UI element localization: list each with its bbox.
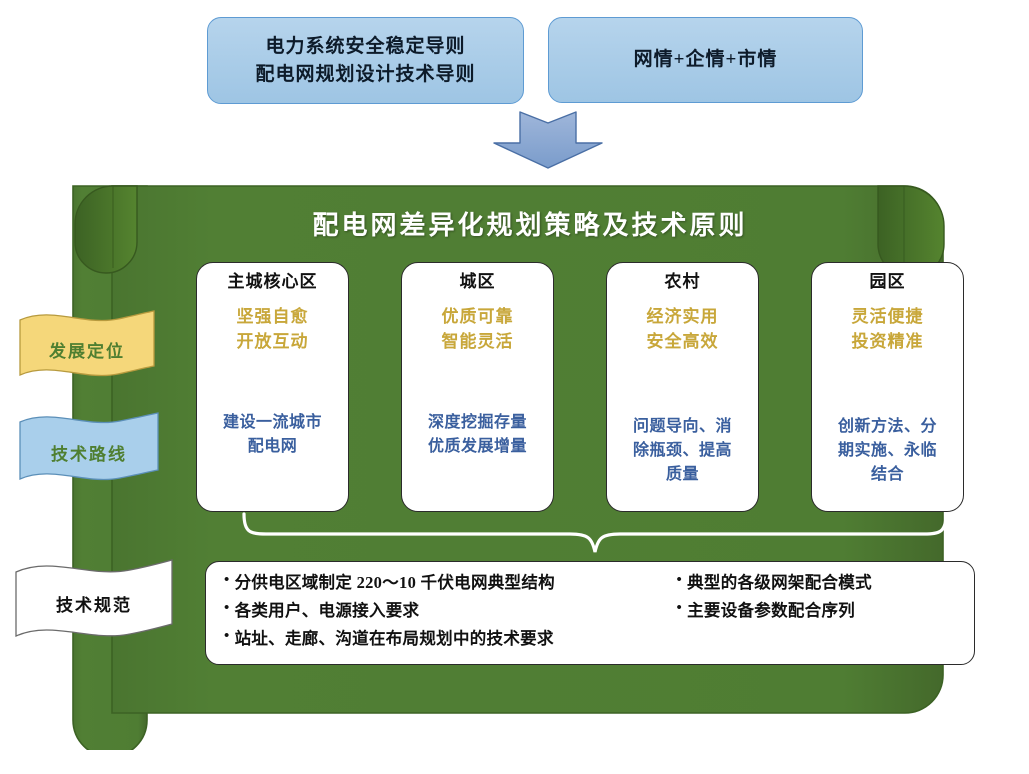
- input-box-context: 网情+企情+市情: [548, 17, 863, 103]
- spec-text: 各类用户、电源接入要求: [235, 600, 420, 621]
- spec-item: • 主要设备参数配合序列: [677, 600, 960, 621]
- spec-item: • 典型的各级网架配合模式: [677, 572, 960, 593]
- ribbon-technical-specification[interactable]: 技术规范: [14, 558, 174, 650]
- ribbon-label: 技术规范: [14, 591, 174, 616]
- card-positioning-text: 优质可靠 智能灵活: [442, 305, 514, 354]
- bullet-dot-icon: •: [224, 572, 230, 589]
- spec-item: • 分供电区域制定 220～10 千伏电网典型结构: [224, 572, 677, 593]
- scroll-title: 配电网差异化规划策略及技术原则: [180, 205, 880, 242]
- positioning-line: 灵活便捷: [852, 305, 924, 330]
- strategy-card-park[interactable]: 园区 灵活便捷 投资精准 创新方法、分 期实施、永临 结合: [811, 262, 964, 512]
- ribbon-label: 技术路线: [18, 440, 160, 465]
- spec-text: 分供电区域制定 220～10 千伏电网典型结构: [235, 572, 555, 593]
- specs-column-left: • 分供电区域制定 220～10 千伏电网典型结构 • 各类用户、电源接入要求 …: [224, 572, 677, 656]
- card-route-text: 建设一流城市 配电网: [223, 411, 322, 459]
- route-line: 优质发展增量: [428, 435, 527, 459]
- specs-column-right: • 典型的各级网架配合模式 • 主要设备参数配合序列: [677, 572, 960, 656]
- positioning-line: 经济实用: [647, 305, 719, 330]
- positioning-line: 坚强自愈: [237, 305, 309, 330]
- context-line-1: 网情+企情+市情: [634, 46, 778, 74]
- ribbon-technical-route[interactable]: 技术路线: [18, 412, 160, 492]
- positioning-line: 开放互动: [237, 330, 309, 355]
- card-route-text: 深度挖掘存量 优质发展增量: [428, 411, 527, 459]
- guidelines-line-1: 电力系统安全稳定导则: [265, 33, 465, 61]
- route-line: 建设一流城市: [223, 411, 322, 435]
- route-line: 结合: [838, 463, 937, 487]
- route-line: 期实施、永临: [838, 439, 937, 463]
- strategy-card-main-city-core[interactable]: 主城核心区 坚强自愈 开放互动 建设一流城市 配电网: [196, 262, 349, 512]
- spec-item: • 站址、走廊、沟道在布局规划中的技术要求: [224, 628, 677, 649]
- technical-specs-panel: • 分供电区域制定 220～10 千伏电网典型结构 • 各类用户、电源接入要求 …: [205, 561, 975, 665]
- route-line: 深度挖掘存量: [428, 411, 527, 435]
- spec-text: 站址、走廊、沟道在布局规划中的技术要求: [235, 628, 554, 649]
- route-line: 除瓶颈、提高: [633, 439, 732, 463]
- card-title: 主城核心区: [228, 272, 318, 292]
- card-positioning-text: 经济实用 安全高效: [647, 305, 719, 354]
- strategy-card-urban[interactable]: 城区 优质可靠 智能灵活 深度挖掘存量 优质发展增量: [401, 262, 554, 512]
- input-box-guidelines: 电力系统安全稳定导则 配电网规划设计技术导则: [207, 17, 524, 104]
- strategy-card-rural[interactable]: 农村 经济实用 安全高效 问题导向、消 除瓶颈、提高 质量: [606, 262, 759, 512]
- card-route-text: 问题导向、消 除瓶颈、提高 质量: [633, 415, 732, 487]
- route-line: 配电网: [223, 435, 322, 459]
- spec-text: 典型的各级网架配合模式: [687, 572, 872, 593]
- bullet-dot-icon: •: [677, 572, 683, 589]
- ribbon-label: 发展定位: [18, 337, 156, 362]
- spec-item: • 各类用户、电源接入要求: [224, 600, 677, 621]
- diagram-canvas: 电力系统安全稳定导则 配电网规划设计技术导则 网情+企情+市情: [0, 0, 1029, 774]
- card-title: 农村: [665, 272, 701, 292]
- card-positioning-text: 坚强自愈 开放互动: [237, 305, 309, 354]
- card-title: 园区: [870, 272, 906, 292]
- positioning-line: 优质可靠: [442, 305, 514, 330]
- ribbon-development-positioning[interactable]: 发展定位: [18, 310, 156, 388]
- positioning-line: 智能灵活: [442, 330, 514, 355]
- route-line: 创新方法、分: [838, 415, 937, 439]
- card-title: 城区: [460, 272, 496, 292]
- card-route-text: 创新方法、分 期实施、永临 结合: [838, 415, 937, 487]
- positioning-line: 投资精准: [852, 330, 924, 355]
- route-line: 质量: [633, 463, 732, 487]
- curly-brace-icon: [240, 512, 950, 554]
- spec-text: 主要设备参数配合序列: [687, 600, 855, 621]
- bullet-dot-icon: •: [224, 628, 230, 645]
- card-positioning-text: 灵活便捷 投资精准: [852, 305, 924, 354]
- positioning-line: 安全高效: [647, 330, 719, 355]
- bullet-dot-icon: •: [677, 600, 683, 617]
- bullet-dot-icon: •: [224, 600, 230, 617]
- route-line: 问题导向、消: [633, 415, 732, 439]
- guidelines-line-2: 配电网规划设计技术导则: [255, 61, 475, 89]
